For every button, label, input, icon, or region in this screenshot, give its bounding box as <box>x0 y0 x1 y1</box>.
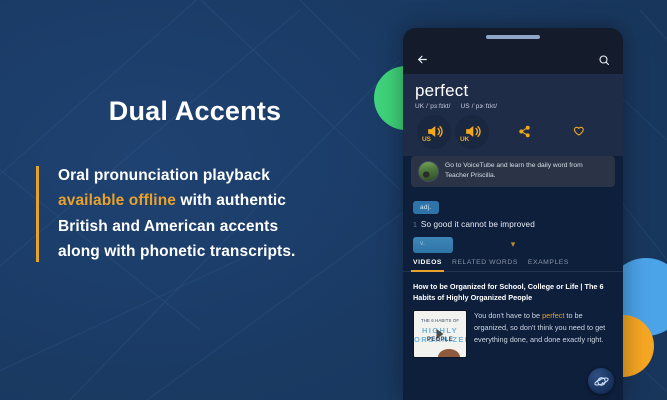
promo-body-line-4: along with phonetic transcripts. <box>58 239 390 264</box>
phonetics: UK /ˈpɜːfɪkt/ US /ˈpɝːfɪkt/ <box>415 103 611 110</box>
video-title: How to be Organized for School, College … <box>413 281 613 304</box>
promo-body-line-1: Oral pronunciation playback <box>58 163 390 188</box>
page-title: Dual Accents <box>0 96 390 127</box>
promo-highlight-text: available offline <box>58 192 176 209</box>
action-row: US UK <box>415 110 611 156</box>
play-uk-pronunciation-button[interactable]: UK <box>455 115 489 149</box>
tab-related-words[interactable]: RELATED WORDS <box>452 259 518 271</box>
definitions-section: adj. 1 So good it cannot be improved v. … <box>403 187 623 253</box>
phone-speaker-slit <box>486 35 540 39</box>
promo-banner-text: Go to VoiceTube and learn the daily word… <box>445 161 608 180</box>
app-bar <box>403 45 623 74</box>
favorite-button[interactable] <box>561 115 595 149</box>
chevron-down-icon[interactable]: ▾ <box>511 240 516 249</box>
us-accent-label: US <box>422 136 431 143</box>
play-us-pronunciation-button[interactable]: US <box>417 115 451 149</box>
promo-body-line-2-text: with authentic <box>176 192 286 209</box>
definition-row: 1 So good it cannot be improved <box>413 220 613 229</box>
avatar <box>418 161 439 182</box>
back-icon[interactable] <box>413 51 431 69</box>
planet-icon[interactable] <box>588 368 614 394</box>
promo-body-line-1-text: Oral pronunciation playback <box>58 167 270 184</box>
thumbnail-line-1: THE 6 HABITS OF <box>414 318 466 323</box>
tab-examples[interactable]: EXAMPLES <box>528 259 569 271</box>
thumbnail-hand-shape <box>438 349 460 358</box>
share-button[interactable] <box>507 115 541 149</box>
video-result-card[interactable]: How to be Organized for School, College … <box>403 272 623 359</box>
promo-body-line-4-text: along with phonetic transcripts. <box>58 243 295 260</box>
definition-number: 1 <box>413 222 417 229</box>
word-header: perfect UK /ˈpɜːfɪkt/ US /ˈpɝːfɪkt/ US <box>403 74 623 156</box>
phonetic-uk: UK /ˈpɜːfɪkt/ <box>415 103 451 110</box>
tab-videos[interactable]: VIDEOS <box>413 259 442 271</box>
video-description: You don't have to be perfect to be organ… <box>474 310 613 358</box>
pos-tag-verb: v. <box>413 237 453 253</box>
accent-bar <box>36 166 39 262</box>
pos-tag-adjective: adj. <box>413 201 439 214</box>
promo-body-line-2: available offline with authentic <box>58 188 390 213</box>
promo-body-line-3-text: British and American accents <box>58 218 278 235</box>
headword: perfect <box>415 82 611 101</box>
phonetic-us: US /ˈpɝːfɪkt/ <box>461 103 498 110</box>
phone-earpiece-bar <box>403 28 623 45</box>
promo-body-line-3: British and American accents <box>58 214 390 239</box>
video-body: THE 6 HABITS OF HIGHLY ORGANIZED PEOPLE … <box>413 310 613 358</box>
search-icon[interactable] <box>595 51 613 69</box>
promo-screenshot: Dual Accents Oral pronunciation playback… <box>0 0 667 400</box>
video-description-pre: You don't have to be <box>474 311 542 320</box>
play-icon <box>437 329 444 339</box>
secondary-pos-row: v. ▾ <box>413 237 613 253</box>
video-thumbnail[interactable]: THE 6 HABITS OF HIGHLY ORGANIZED PEOPLE <box>413 310 467 358</box>
content-tabs: VIDEOS RELATED WORDS EXAMPLES <box>403 253 623 272</box>
phone-mockup: perfect UK /ˈpɜːfɪkt/ US /ˈpɝːfɪkt/ US <box>403 28 623 400</box>
uk-accent-label: UK <box>460 136 469 143</box>
promo-banner[interactable]: Go to VoiceTube and learn the daily word… <box>411 156 615 187</box>
promo-copy: Dual Accents Oral pronunciation playback… <box>0 96 390 264</box>
video-description-keyword: perfect <box>542 311 564 320</box>
definition-text: So good it cannot be improved <box>421 220 535 229</box>
promo-body: Oral pronunciation playback available of… <box>36 163 390 264</box>
